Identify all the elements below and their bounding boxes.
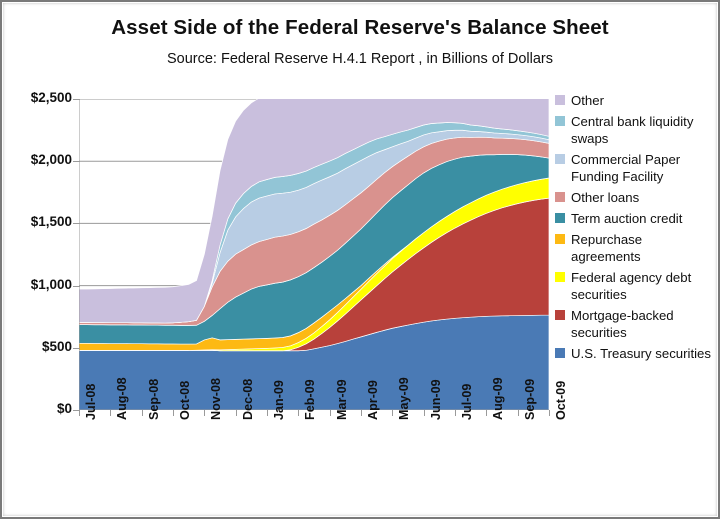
legend-swatch-icon: [555, 310, 565, 320]
legend-label: Central bank liquidity swaps: [571, 113, 715, 147]
x-axis-tick: [267, 410, 268, 416]
legend-item-swaps[interactable]: Central bank liquidity swaps: [555, 113, 715, 147]
y-axis-label: $0: [6, 401, 72, 416]
x-axis-label: Oct-08: [178, 381, 192, 420]
legend-label: Mortgage-backed securities: [571, 307, 715, 341]
x-axis-label: Oct-09: [554, 381, 568, 420]
y-axis-tick: [73, 223, 80, 224]
y-axis-label: $2,500: [6, 90, 72, 105]
legend-label: Other loans: [571, 189, 639, 206]
legend-item-mbs[interactable]: Mortgage-backed securities: [555, 307, 715, 341]
legend-swatch-icon: [555, 192, 565, 202]
y-axis-tick: [73, 99, 80, 100]
legend-item-agency[interactable]: Federal agency debt securities: [555, 269, 715, 303]
x-axis-tick: [173, 410, 174, 416]
x-axis-tick: [142, 410, 143, 416]
legend-label: Repurchase agreements: [571, 231, 715, 265]
legend-swatch-icon: [555, 95, 565, 105]
x-axis-tick: [236, 410, 237, 416]
x-axis-label: Nov-08: [209, 378, 223, 420]
x-axis-tick: [549, 410, 550, 416]
x-axis-tick: [424, 410, 425, 416]
y-axis-tick: [73, 286, 80, 287]
x-axis-tick: [392, 410, 393, 416]
x-axis-tick: [110, 410, 111, 416]
x-axis-tick: [330, 410, 331, 416]
stacked-area-chart: [79, 99, 549, 410]
y-axis-label: $1,500: [6, 214, 72, 229]
legend-item-ust[interactable]: U.S. Treasury securities: [555, 345, 715, 362]
y-axis-label: $500: [6, 339, 72, 354]
x-axis-tick: [298, 410, 299, 416]
x-axis-label: Jul-09: [460, 384, 474, 420]
x-axis-tick: [79, 410, 80, 416]
legend-swatch-icon: [555, 213, 565, 223]
x-axis-label: Sep-09: [523, 379, 537, 420]
legend-swatch-icon: [555, 234, 565, 244]
y-axis-label: $1,000: [6, 277, 72, 292]
chart-subtitle: Source: Federal Reserve H.4.1 Report , i…: [2, 51, 718, 67]
x-axis-label: Apr-09: [366, 380, 380, 420]
x-axis-tick: [361, 410, 362, 416]
y-axis-tick: [73, 161, 80, 162]
legend-label: Term auction credit: [571, 210, 682, 227]
legend-label: Commercial Paper Funding Facility: [571, 151, 715, 185]
x-axis-label: May-09: [397, 377, 411, 420]
x-axis-label: Mar-09: [335, 379, 349, 420]
x-axis-label: Dec-08: [241, 379, 255, 420]
legend-item-repo[interactable]: Repurchase agreements: [555, 231, 715, 265]
y-axis-tick: [73, 348, 80, 349]
x-axis-tick: [204, 410, 205, 416]
x-axis-tick: [455, 410, 456, 416]
legend-item-taf[interactable]: Term auction credit: [555, 210, 715, 227]
legend-item-other[interactable]: Other: [555, 92, 715, 109]
legend-label: U.S. Treasury securities: [571, 345, 711, 362]
y-axis-label: $2,000: [6, 152, 72, 167]
x-axis-tick: [518, 410, 519, 416]
legend-label: Federal agency debt securities: [571, 269, 715, 303]
x-axis-label: Jul-08: [84, 384, 98, 420]
legend-swatch-icon: [555, 116, 565, 126]
x-axis-label: Jun-09: [429, 379, 443, 420]
x-axis-label: Feb-09: [303, 379, 317, 420]
x-axis-tick: [486, 410, 487, 416]
chart-frame: Asset Side of the Federal Reserve's Bala…: [0, 0, 720, 519]
legend-item-other_loans[interactable]: Other loans: [555, 189, 715, 206]
chart-title: Asset Side of the Federal Reserve's Bala…: [2, 16, 718, 40]
legend-swatch-icon: [555, 348, 565, 358]
legend-swatch-icon: [555, 272, 565, 282]
legend-label: Other: [571, 92, 604, 109]
legend-item-cpff[interactable]: Commercial Paper Funding Facility: [555, 151, 715, 185]
legend-swatch-icon: [555, 154, 565, 164]
plot-area: [79, 99, 549, 410]
x-axis-label: Aug-08: [115, 377, 129, 420]
x-axis-label: Sep-08: [147, 379, 161, 420]
x-axis-label: Aug-09: [491, 377, 505, 420]
chart-legend: OtherCentral bank liquidity swapsCommerc…: [555, 92, 715, 366]
x-axis-label: Jan-09: [272, 380, 286, 420]
